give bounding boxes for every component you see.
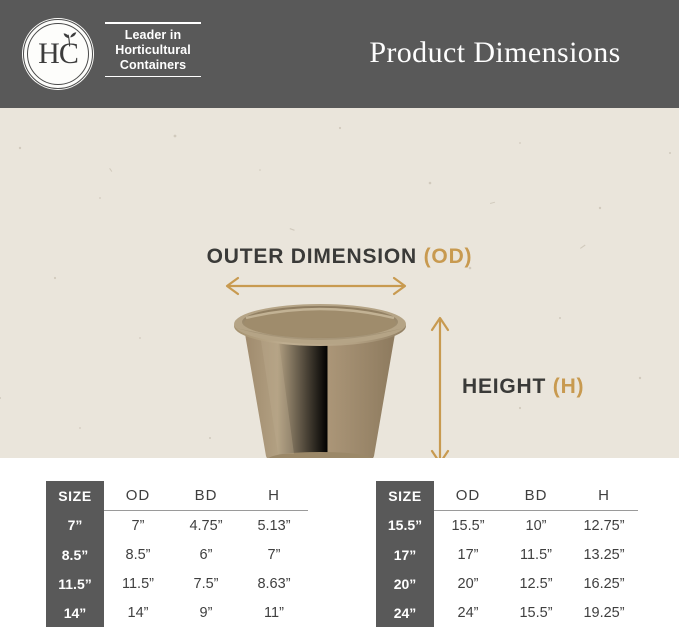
table-header-row: SIZE OD BD H	[376, 481, 638, 511]
table-row: 14” 14” 9” 11”	[46, 598, 308, 627]
table-header-row: SIZE OD BD H	[46, 481, 308, 511]
cell-size: 15.5”	[376, 511, 434, 541]
height-arrow-icon	[428, 313, 452, 458]
outer-dimension-abbr: (OD)	[424, 245, 473, 268]
page-title: Product Dimensions	[330, 36, 660, 70]
cell-bd: 15.5”	[502, 598, 570, 627]
tagline-rule-bottom	[105, 76, 201, 78]
column-header-h: H	[570, 481, 638, 511]
tagline-line-2: Horticultural	[104, 43, 202, 58]
cell-od: 15.5”	[434, 511, 502, 541]
cell-size: 17”	[376, 540, 434, 569]
table-row: 20” 20” 12.5” 16.25”	[376, 569, 638, 598]
outer-dimension-text: OUTER DIMENSION	[207, 245, 424, 268]
cell-od: 7”	[104, 511, 172, 541]
column-header-bd: BD	[172, 481, 240, 511]
cell-od: 20”	[434, 569, 502, 598]
cell-od: 8.5”	[104, 540, 172, 569]
column-header-size: SIZE	[46, 481, 104, 511]
cell-bd: 11.5”	[502, 540, 570, 569]
cell-bd: 4.75”	[172, 511, 240, 541]
cell-bd: 9”	[172, 598, 240, 627]
height-abbr: (H)	[553, 375, 585, 398]
tagline-line-3: Containers	[104, 58, 202, 73]
cell-bd: 6”	[172, 540, 240, 569]
height-label: HEIGHT (H)	[462, 375, 584, 399]
diagram-panel: OUTER DIMENSION (OD)	[0, 108, 679, 458]
cell-size: 24”	[376, 598, 434, 627]
column-header-size: SIZE	[376, 481, 434, 511]
cell-size: 14”	[46, 598, 104, 627]
table-row: 8.5” 8.5” 6” 7”	[46, 540, 308, 569]
cell-bd: 7.5”	[172, 569, 240, 598]
flower-pot-illustration	[222, 304, 418, 458]
table-row: 15.5” 15.5” 10” 12.75”	[376, 511, 638, 541]
height-text: HEIGHT	[462, 375, 553, 398]
column-header-od: OD	[104, 481, 172, 511]
cell-bd: 12.5”	[502, 569, 570, 598]
cell-h: 5.13”	[240, 511, 308, 541]
table-row: 11.5” 11.5” 7.5” 8.63”	[46, 569, 308, 598]
cell-size: 8.5”	[46, 540, 104, 569]
column-header-od: OD	[434, 481, 502, 511]
table-row: 24” 24” 15.5” 19.25”	[376, 598, 638, 627]
table-row: 17” 17” 11.5” 13.25”	[376, 540, 638, 569]
cell-bd: 10”	[502, 511, 570, 541]
cell-h: 12.75”	[570, 511, 638, 541]
cell-od: 14”	[104, 598, 172, 627]
cell-h: 11”	[240, 598, 308, 627]
brand-tagline: Leader in Horticultural Containers	[104, 22, 202, 77]
logo-monogram: HC	[22, 38, 94, 70]
cell-od: 17”	[434, 540, 502, 569]
brand-logo: HC Leader in Horticultural Containers	[22, 18, 202, 90]
cell-od: 24”	[434, 598, 502, 627]
outer-dimension-arrow-icon	[222, 274, 410, 298]
outer-dimension-label: OUTER DIMENSION (OD)	[0, 245, 679, 269]
cell-h: 16.25”	[570, 569, 638, 598]
column-header-h: H	[240, 481, 308, 511]
cell-h: 8.63”	[240, 569, 308, 598]
cell-size: 11.5”	[46, 569, 104, 598]
cell-h: 13.25”	[570, 540, 638, 569]
cell-size: 20”	[376, 569, 434, 598]
hc-circle-logo-icon: HC	[22, 18, 94, 90]
size-table-right: SIZE OD BD H 15.5” 15.5” 10” 12.75” 17” …	[376, 481, 638, 627]
cell-size: 7”	[46, 511, 104, 541]
table-row: 7” 7” 4.75” 5.13”	[46, 511, 308, 541]
header-bar: HC Leader in Horticultural Containers Pr…	[0, 0, 679, 108]
tagline-line-1: Leader in	[104, 28, 202, 43]
cell-od: 11.5”	[104, 569, 172, 598]
column-header-bd: BD	[502, 481, 570, 511]
size-table-left: SIZE OD BD H 7” 7” 4.75” 5.13” 8.5” 8.5”…	[46, 481, 308, 627]
cell-h: 19.25”	[570, 598, 638, 627]
cell-h: 7”	[240, 540, 308, 569]
